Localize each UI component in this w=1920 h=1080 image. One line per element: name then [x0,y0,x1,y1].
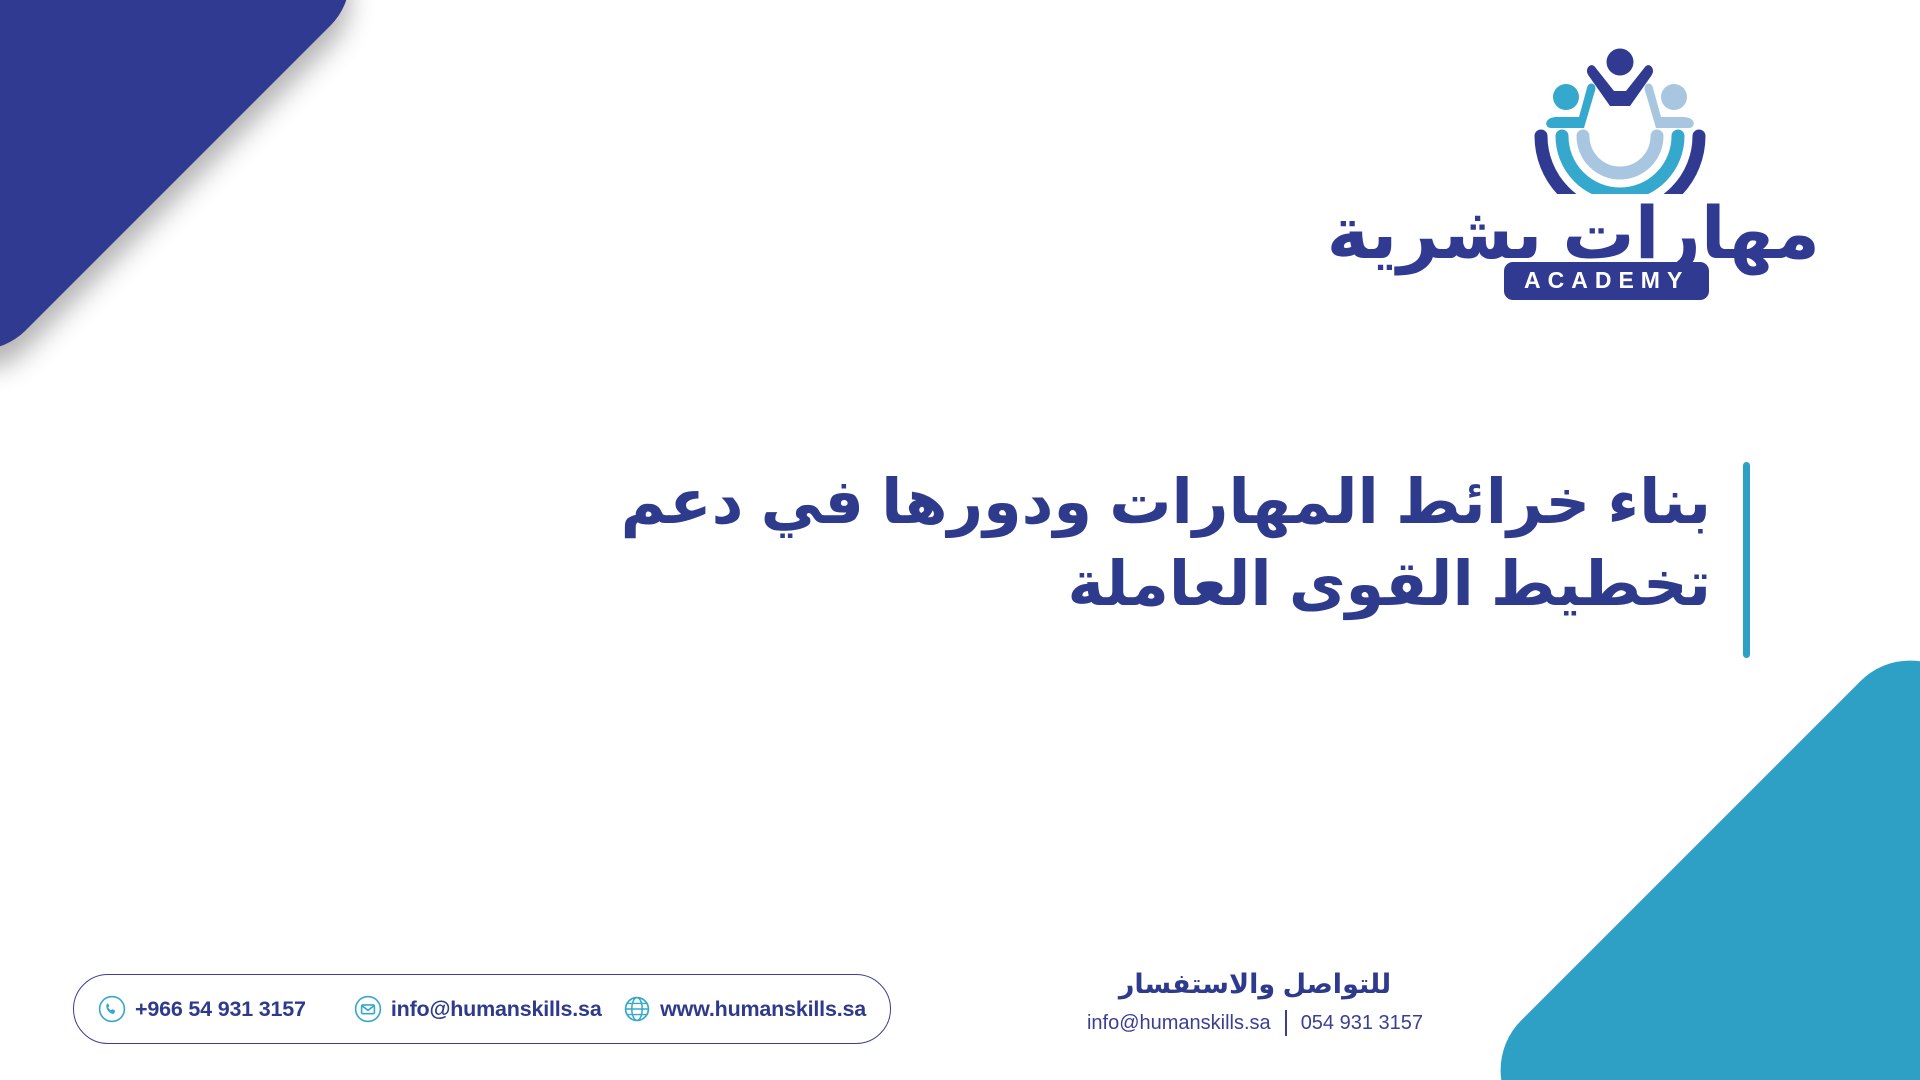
contact-info-details: info@humanskills.sa 054 931 3157 [1090,1010,1420,1036]
contact-phone-label: +966 54 931 3157 [135,997,306,1022]
contact-website-label: www.humanskills.sa [660,997,866,1022]
bottom-right-decorative-shape [1472,632,1920,1080]
contact-info-divider [1285,1010,1287,1036]
logo-academy-badge: ACADEMY [1504,262,1709,300]
phone-icon [98,995,126,1023]
top-left-decorative-shape [0,0,376,376]
globe-icon [623,995,651,1023]
page-title: بناء خرائط المهارات ودورها في دعم تخطيط … [460,462,1743,658]
three-people-arcs-icon [1529,44,1711,194]
contact-info-heading: للتواصل والاستفسار [1090,968,1420,1000]
academy-logo: مهارات بشرية ACADEMY [1420,44,1820,306]
contact-info-block: للتواصل والاستفسار info@humanskills.sa 0… [1090,968,1420,1036]
logo-wordmark: مهارات بشرية ACADEMY [1420,198,1820,306]
contact-website[interactable]: www.humanskills.sa [623,995,866,1023]
contact-info-phone[interactable]: 054 931 3157 [1301,1012,1423,1035]
title-slide: مهارات بشرية ACADEMY بناء خرائط المهارات… [0,0,1920,1080]
contact-info-email[interactable]: info@humanskills.sa [1087,1012,1271,1035]
contact-bar: +966 54 931 3157 info@humanskills.sa www… [73,974,891,1044]
contact-phone[interactable]: +966 54 931 3157 [98,995,354,1023]
logo-arabic-name: مهارات بشرية [1327,198,1820,270]
title-block: بناء خرائط المهارات ودورها في دعم تخطيط … [460,462,1750,658]
title-accent-rule [1743,462,1750,658]
contact-email[interactable]: info@humanskills.sa [354,995,623,1023]
contact-email-label: info@humanskills.sa [391,997,602,1022]
envelope-icon [354,995,382,1023]
